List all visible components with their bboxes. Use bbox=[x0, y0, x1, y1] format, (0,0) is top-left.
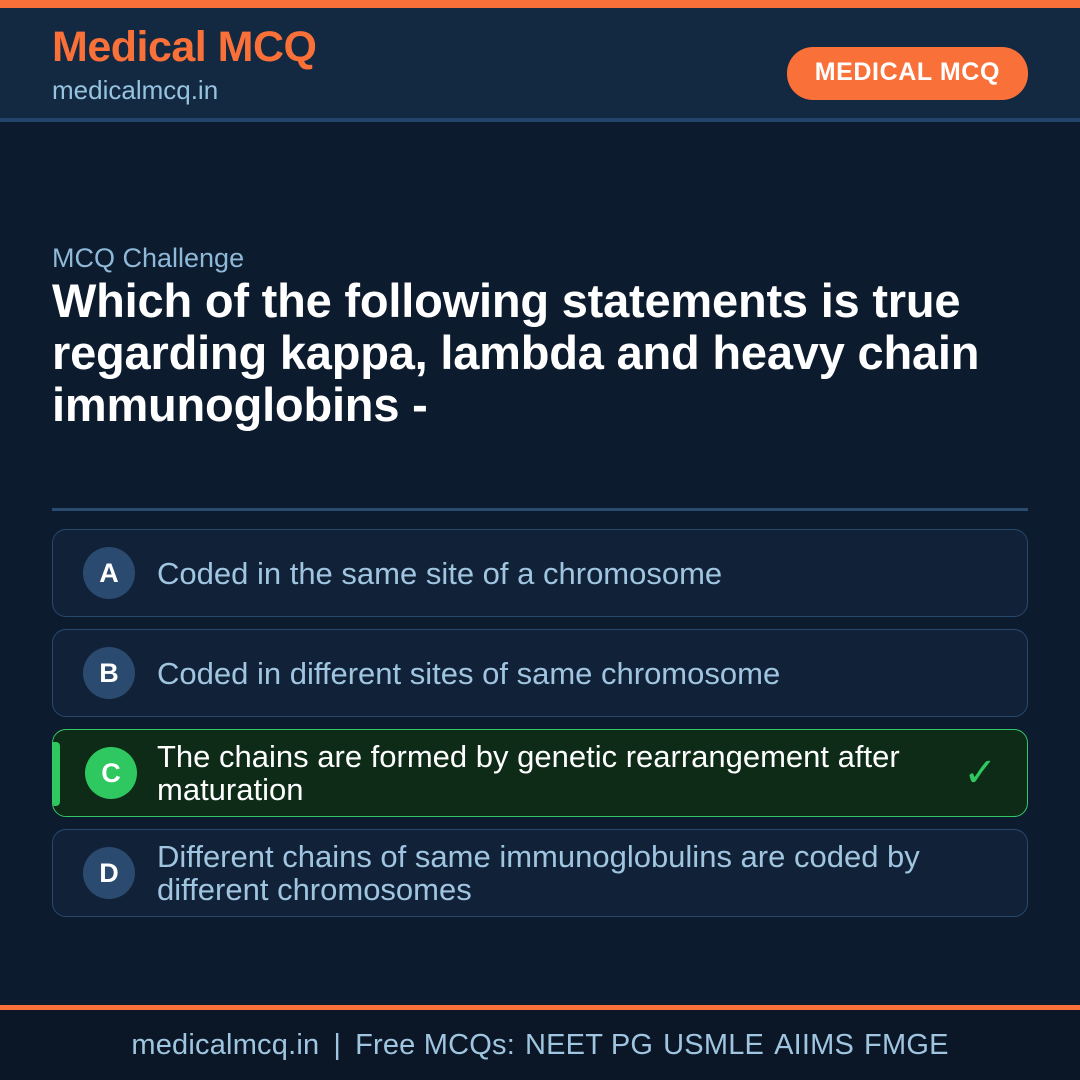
option-b[interactable]: B Coded in different sites of same chrom… bbox=[52, 629, 1028, 717]
main-content: MCQ Challenge Which of the following sta… bbox=[0, 122, 1080, 1010]
brand: Medical MCQ medicalmcq.in bbox=[52, 22, 317, 106]
option-c[interactable]: C The chains are formed by genetic rearr… bbox=[52, 729, 1028, 817]
footer-exam-neetpg: NEET PG bbox=[515, 1029, 653, 1061]
option-letter-badge: B bbox=[83, 647, 135, 699]
mcq-challenge-label: MCQ Challenge bbox=[52, 242, 244, 274]
footer-site: medicalmcq.in bbox=[131, 1029, 319, 1061]
footer-exam-fmge: FMGE bbox=[854, 1029, 949, 1061]
option-label: Different chains of same immunoglobulins… bbox=[157, 840, 1009, 906]
option-label: The chains are formed by genetic rearran… bbox=[157, 740, 1009, 806]
footer-separator: | bbox=[319, 1029, 355, 1061]
footer-exam-usmle: USMLE bbox=[653, 1029, 764, 1061]
option-letter-badge: A bbox=[83, 547, 135, 599]
brand-subtitle: medicalmcq.in bbox=[52, 74, 317, 106]
question-text: Which of the following statements is tru… bbox=[52, 275, 1032, 431]
option-a[interactable]: A Coded in the same site of a chromosome… bbox=[52, 529, 1028, 617]
top-accent-bar bbox=[0, 0, 1080, 8]
footer-prefix: Free MCQs: bbox=[355, 1029, 515, 1061]
option-letter-badge: C bbox=[85, 747, 137, 799]
footer-text: medicalmcq.in|Free MCQs:NEET PGUSMLEAIIM… bbox=[131, 1029, 948, 1062]
page-header: Medical MCQ medicalmcq.in MEDICAL MCQ bbox=[0, 8, 1080, 120]
option-letter-badge: D bbox=[83, 847, 135, 899]
option-d[interactable]: D Different chains of same immunoglobuli… bbox=[52, 829, 1028, 917]
options-list: A Coded in the same site of a chromosome… bbox=[52, 529, 1028, 929]
page-footer: medicalmcq.in|Free MCQs:NEET PGUSMLEAIIM… bbox=[0, 1010, 1080, 1080]
question-divider bbox=[52, 508, 1028, 511]
option-label: Coded in the same site of a chromosome bbox=[157, 557, 722, 590]
header-badge: MEDICAL MCQ bbox=[787, 47, 1028, 100]
check-icon: ✓ bbox=[963, 753, 997, 793]
option-label: Coded in different sites of same chromos… bbox=[157, 657, 780, 690]
footer-exam-aiims: AIIMS bbox=[764, 1029, 854, 1061]
correct-accent-bar bbox=[53, 742, 60, 806]
brand-title: Medical MCQ bbox=[52, 22, 317, 72]
